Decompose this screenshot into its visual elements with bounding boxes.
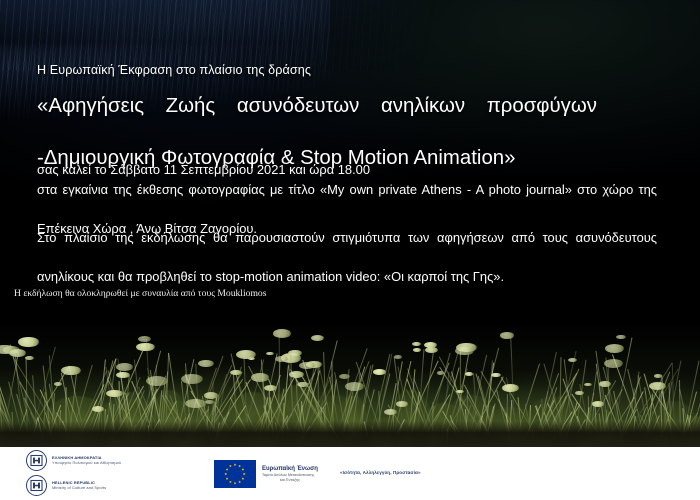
photo-flower-head (649, 382, 667, 390)
photo-flower-head (273, 329, 291, 337)
photo-flower-head (138, 336, 151, 342)
eu-star-icon (243, 473, 246, 476)
eu-star-icon (238, 465, 241, 468)
photo-flower-head (465, 372, 473, 376)
photo-flower-head (384, 409, 397, 415)
photo-flower-head (616, 335, 626, 340)
photo-flower-head (266, 352, 274, 356)
photo-flower-head (575, 391, 583, 395)
photo-flower-head (54, 382, 62, 386)
eu-star-icon (234, 463, 237, 466)
photo-flower-head (491, 373, 500, 377)
photo-flower-head (345, 382, 364, 391)
eu-star-icon (241, 477, 244, 480)
hellenic-republic-greek-text: ΕΛΛΗΝΙΚΗ ΔΗΜΟΚΡΑΤΙΑ Υπουργείο Πολιτισμού… (52, 456, 121, 465)
poster-kicker: Η Ευρωπαϊκή Έκφραση στο πλαίσιο της δράσ… (37, 63, 311, 77)
eu-flag-icon (214, 460, 256, 488)
poster-description-block: Στο πλαίσιο της εκδήλωσης θα παρουσιαστο… (37, 228, 657, 287)
eu-star-icon (238, 480, 241, 483)
eu-title: Ευρωπαϊκή Ένωση (262, 466, 318, 473)
photo-flower-head (500, 332, 514, 338)
photo-flower-stem (460, 349, 461, 430)
footer-logo-bar: ΕΛΛΗΝΙΚΗ ΔΗΜΟΚΡΑΤΙΑ Υπουργείο Πολιτισμού… (0, 447, 700, 500)
poster-image: Η Ευρωπαϊκή Έκφραση στο πλαίσιο της δράσ… (0, 0, 700, 500)
hellenic-republic-english-row: HELLENIC REPUBLIC Ministry of Culture an… (26, 475, 106, 496)
photo-flower-head (339, 374, 350, 379)
hellenic-republic-gr-subtitle: Υπουργείο Πολιτισμού και Αθλητισμού (52, 461, 121, 466)
eu-star-icon (241, 468, 244, 471)
photo-flower-head (116, 363, 133, 371)
photo-flower-head (236, 350, 256, 359)
photo-flower-stem (317, 365, 319, 424)
photo-flower-head (18, 337, 38, 346)
photo-soil-strip (0, 421, 700, 447)
hellenic-republic-emblem-icon (26, 450, 47, 471)
photo-flower-head (394, 355, 402, 359)
photo-flower-head (568, 358, 577, 362)
photo-flower-head (413, 348, 421, 352)
photo-flower-head (181, 374, 203, 384)
photo-flower-head (502, 384, 519, 392)
photo-flower-head (136, 343, 155, 352)
eu-logo-text: Ευρωπαϊκή Ένωση Ταμείο Ασύλου Μετανάστευ… (262, 466, 318, 483)
eu-star-icon (229, 480, 232, 483)
hellenic-republic-english-text: HELLENIC REPUBLIC Ministry of Culture an… (52, 481, 106, 490)
eu-star-icon (229, 465, 232, 468)
photo-flower-head (605, 344, 624, 353)
poster-closing-note: Η εκδήλωση θα ολοκληρωθεί με συναυλία απ… (14, 288, 266, 299)
poster-invitation-line-1: σας καλεί το Σάββατο 11 Σεπτεμβρίου 2021… (37, 162, 370, 177)
poster-description-line-1: Στο πλαίσιο της εκδήλωσης θα παρουσιαστο… (37, 228, 657, 267)
photo-flower-head (437, 371, 444, 374)
photo-flower-head (604, 359, 623, 368)
logo-hellenic-republic: ΕΛΛΗΝΙΚΗ ΔΗΜΟΚΡΑΤΙΑ Υπουργείο Πολιτισμού… (26, 450, 121, 496)
logo-european-union: Ευρωπαϊκή Ένωση Ταμείο Ασύλου Μετανάστευ… (214, 460, 318, 488)
eu-star-icon (224, 473, 227, 476)
hellenic-republic-en-subtitle: Ministry of Culture and Sports (52, 486, 106, 491)
photo-flower-head (373, 369, 385, 375)
hellenic-republic-emblem-icon-en (26, 475, 47, 496)
photo-flower-stem (467, 390, 468, 423)
eu-subtitle-2: και Ένταξης (262, 478, 318, 483)
photo-flower-head (185, 399, 206, 409)
photo-flower-head (61, 366, 80, 375)
eu-star-icon (234, 482, 237, 485)
photo-sea-texture-secondary (0, 0, 520, 70)
photo-flower-head (412, 342, 421, 346)
photo-flower-head (92, 406, 105, 412)
eu-star-icon (226, 468, 229, 471)
poster-title-line-1: «Αφηγήσεις Ζωής ασυνόδευτων ανηλίκων προ… (37, 93, 597, 145)
photo-flower-head (198, 360, 214, 367)
photo-flower-head (9, 349, 26, 357)
photo-flower-head (204, 392, 218, 399)
photo-flower-head (396, 401, 408, 407)
poster-invitation-block: σας καλεί το Σάββατο 11 Σεπτεμβρίου 2021… (37, 160, 657, 238)
poster-description-line-2: ανηλίκους και θα προβληθεί το stop-motio… (37, 269, 504, 284)
footer-motto: «Ισότητα, Αλληλεγγύη, Προστασία» (340, 470, 421, 475)
photo-flower-head (584, 383, 592, 387)
photo-flower-head (311, 335, 324, 341)
hellenic-republic-greek-row: ΕΛΛΗΝΙΚΗ ΔΗΜΟΚΡΑΤΙΑ Υπουργείο Πολιτισμού… (26, 450, 121, 471)
poster-invitation-line-2: στα εγκαίνια της έκθεσης φωτογραφίας με … (37, 180, 657, 219)
eu-star-icon (226, 477, 229, 480)
